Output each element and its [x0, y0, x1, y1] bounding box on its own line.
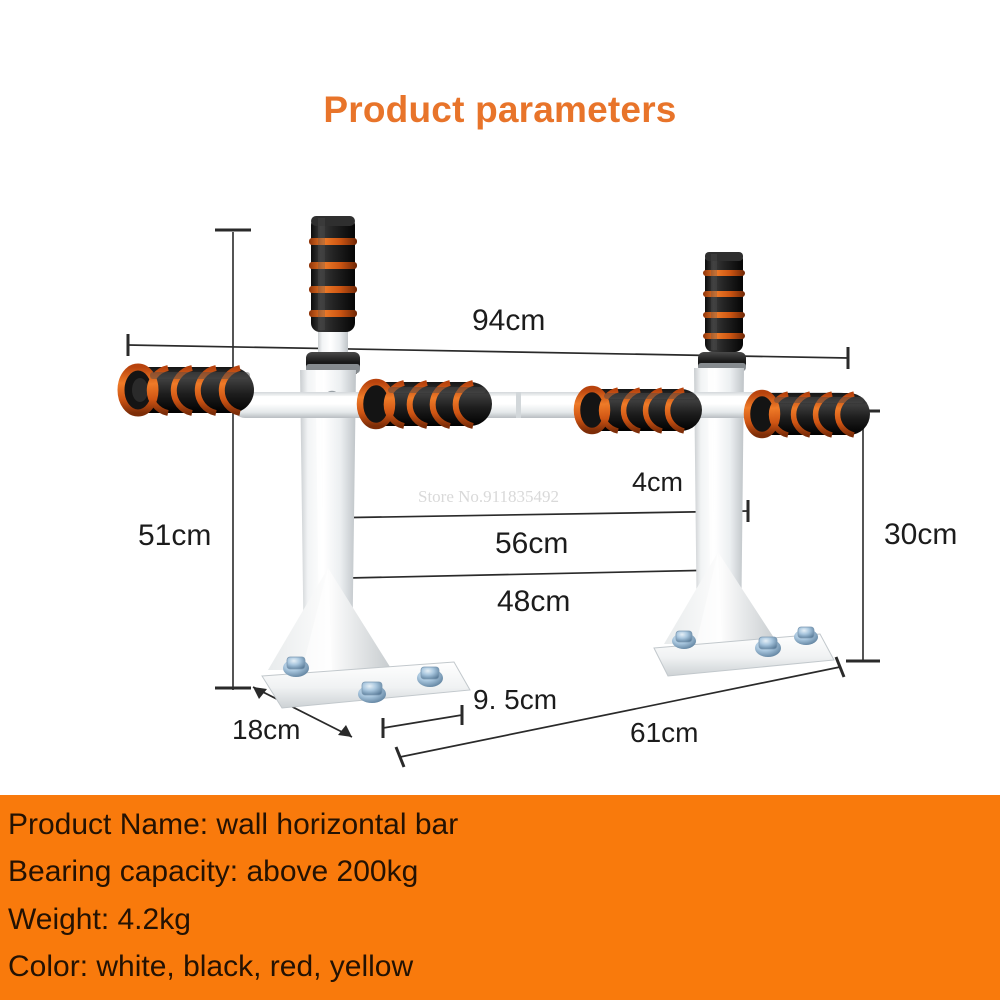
horizontal-grip-left-outer [121, 367, 254, 413]
dimension-label-span-lower: 48cm [497, 585, 570, 619]
dimension-label-height-post-left: 51cm [138, 519, 211, 553]
mounting-bolt [794, 627, 818, 645]
mounting-bolt [417, 667, 443, 687]
vertical-grip-right [703, 252, 745, 352]
right-post-assembly [654, 330, 834, 676]
mounting-bolt [358, 682, 386, 703]
spec-bearing-capacity: Bearing capacity: above 200kg [8, 855, 418, 889]
dimension-label-baseplate-depth: 18cm [232, 714, 300, 746]
vertical-grip-left [309, 216, 357, 332]
spec-product-name: Product Name: wall horizontal bar [8, 808, 458, 842]
dimension-label-bar-offset: 4cm [632, 467, 683, 498]
product-diagram [0, 0, 1000, 795]
dimension-label-mount-spacing: 61cm [630, 717, 698, 749]
dimension-label-baseplate-width: 9. 5cm [473, 684, 557, 716]
mounting-bolt [283, 657, 309, 677]
horizontal-grip-left-inner [360, 382, 492, 426]
mounting-bolt [755, 637, 781, 657]
dimension-label-width-total: 94cm [472, 304, 545, 338]
product-diagram-svg [0, 0, 1000, 795]
dimension-label-span-upper: 56cm [495, 527, 568, 561]
spec-color: Color: white, black, red, yellow [8, 950, 413, 984]
dimension-label-height-post-right: 30cm [884, 518, 957, 552]
spec-weight: Weight: 4.2kg [8, 903, 191, 937]
horizontal-grip-right-outer [747, 393, 870, 435]
horizontal-grip-right-inner [577, 389, 702, 431]
